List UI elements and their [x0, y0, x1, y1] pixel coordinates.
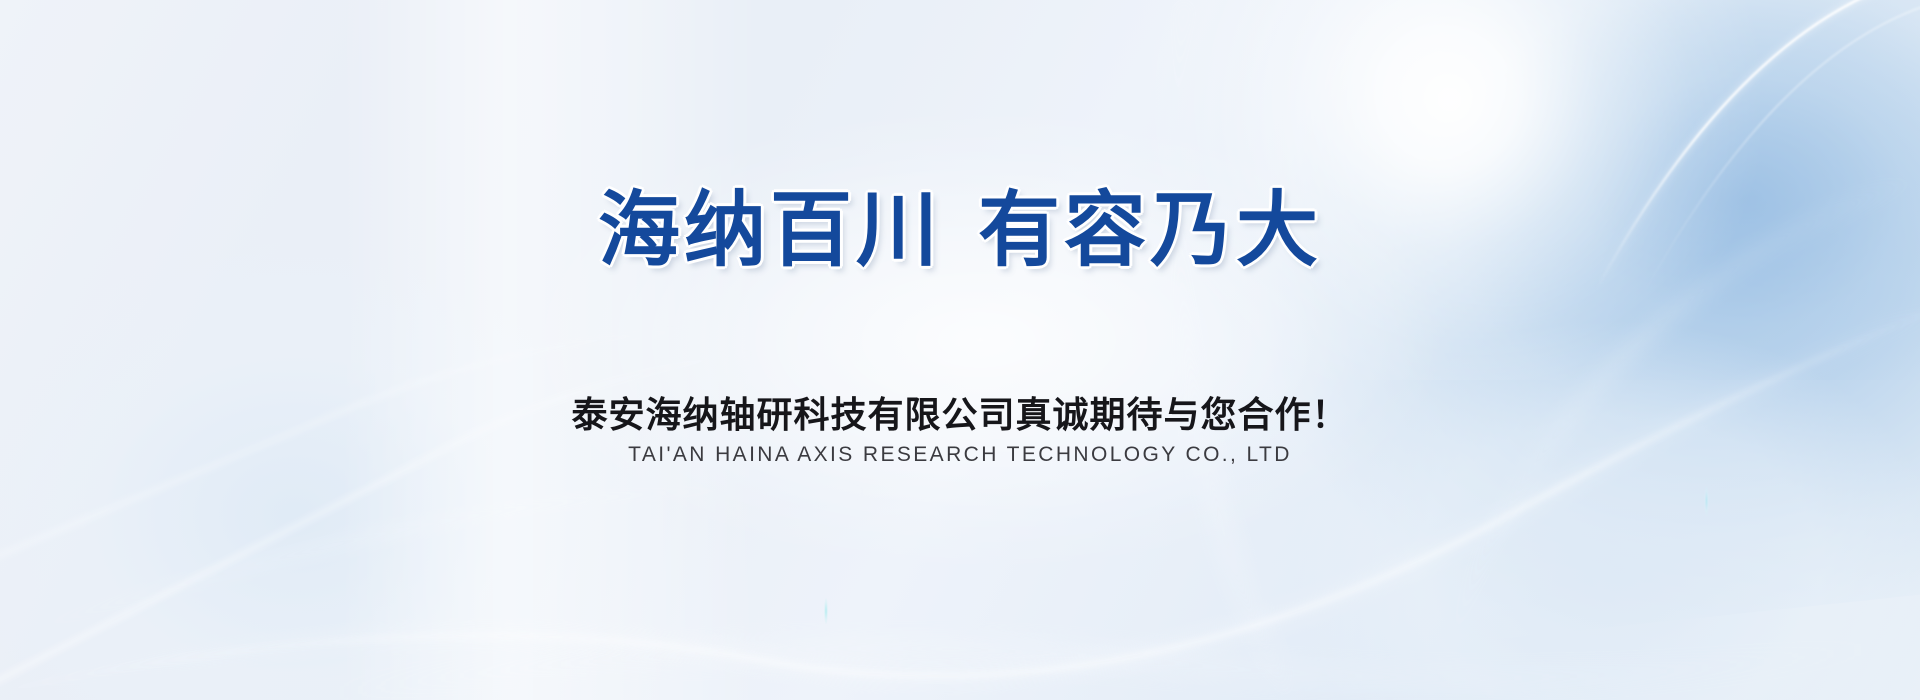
headline-part-1: 海纳百川 [598, 183, 942, 278]
banner-content: 海纳百川有容乃大 泰安海纳轴研科技有限公司真诚期待与您合作！ TAI'AN HA… [0, 0, 1920, 700]
banner-subtitle-chinese: 泰安海纳轴研科技有限公司真诚期待与您合作！ [0, 386, 1920, 438]
hero-banner: 海纳百川有容乃大 泰安海纳轴研科技有限公司真诚期待与您合作！ TAI'AN HA… [0, 0, 1920, 700]
banner-headline: 海纳百川有容乃大 [0, 188, 1920, 274]
headline-part-2: 有容乃大 [978, 183, 1322, 278]
banner-subtitle-english: TAI'AN HAINA AXIS RESEARCH TECHNOLOGY CO… [0, 443, 1920, 467]
